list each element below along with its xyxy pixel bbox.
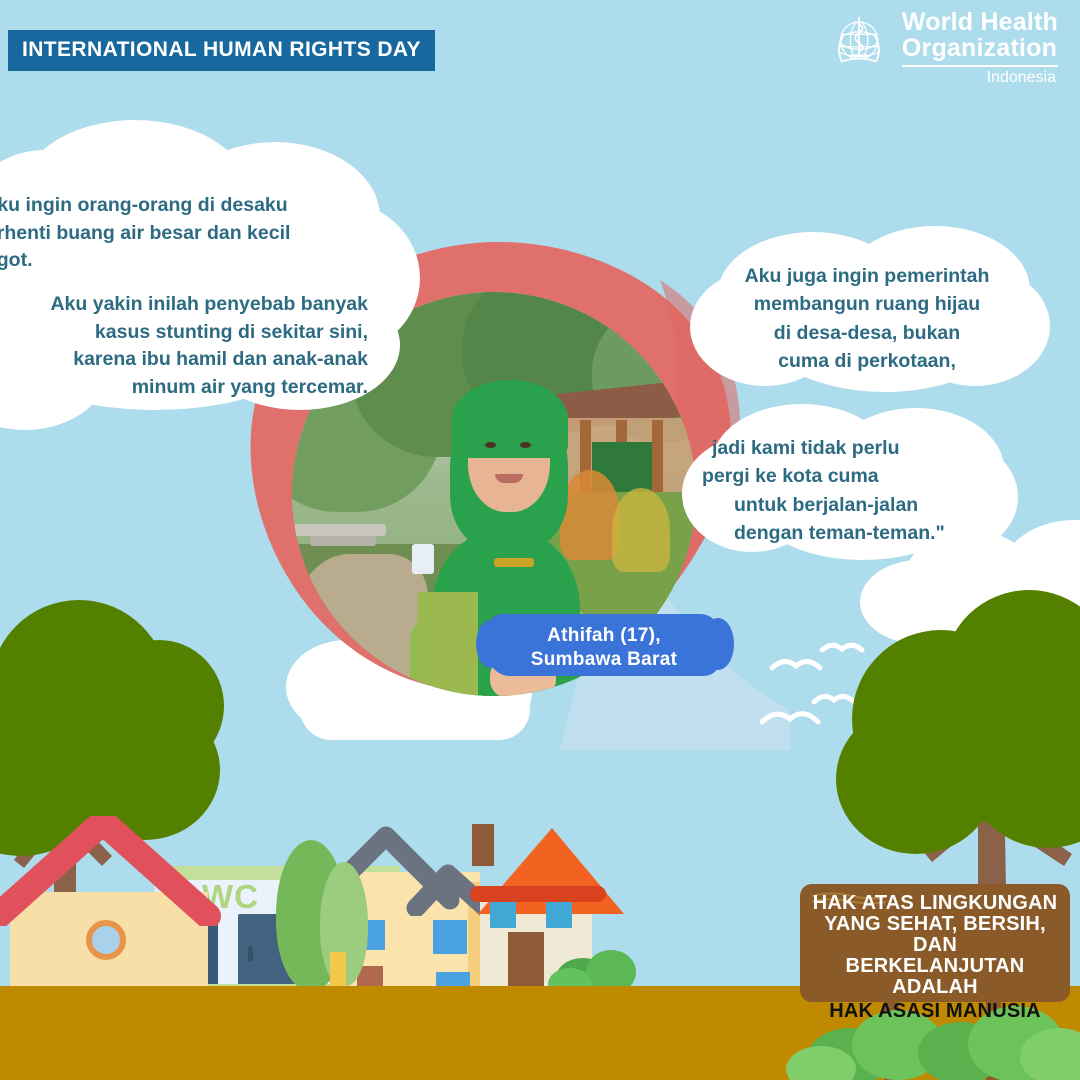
quote-rb-line-4: dengan teman-teman." (712, 519, 984, 547)
sign-line-2: YANG SEHAT, BERSIH, DAN (800, 914, 1070, 956)
badge-location: Sumbawa Barat (488, 648, 720, 672)
name-badge: Athifah (17), Sumbawa Barat (488, 614, 720, 676)
quote-rb-line-3: untuk berjalan-jalan (712, 491, 984, 519)
sign-line-3: BERKELANJUTAN (800, 956, 1070, 977)
quote-rb-line-2: pergi ke kota cuma (712, 462, 984, 490)
quote-bubble-right-bottom: jadi kami tidak perlu pergi ke kota cuma… (688, 408, 998, 558)
quote-left-group-2: Aku yakin inilah penyebab banyak kasus s… (0, 291, 420, 402)
poster-canvas: Athifah (17), Sumbawa Barat "Aku ingin o… (0, 0, 1080, 1080)
quote-left-line-2: berhenti buang air besar dan kecil (0, 220, 420, 248)
rights-statement-sign: HAK ATAS LINGKUNGAN YANG SEHAT, BERSIH, … (800, 884, 1070, 1002)
who-logo: World Health Organization Indonesia (828, 10, 1058, 86)
quote-left-line-7: minum air yang tercemar. (2, 374, 368, 402)
quote-rt-line-2: membangun ruang hijau (716, 290, 1018, 318)
quote-bubble-left: "Aku ingin orang-orang di desaku berhent… (0, 120, 420, 390)
who-line-1: World Health (902, 10, 1058, 36)
quote-left-group-1: "Aku ingin orang-orang di desaku berhent… (0, 192, 420, 275)
quote-rt-line-4: cuma di perkotaan, (716, 347, 1018, 375)
who-line-2: Organization (902, 36, 1058, 62)
sign-line-5: HAK ASASI MANUSIA (800, 1001, 1070, 1022)
quote-left-line-4: Aku yakin inilah penyebab banyak (2, 291, 368, 319)
badge-name: Athifah (17), (488, 624, 720, 648)
sign-line-1: HAK ATAS LINGKUNGAN (800, 893, 1070, 914)
quote-left-line-6: karena ibu hamil dan anak-anak (2, 346, 368, 374)
who-emblem-icon (828, 12, 890, 74)
quote-left-line-5: kasus stunting di sekitar sini, (2, 319, 368, 347)
quote-rb-line-1: jadi kami tidak perlu (712, 434, 984, 462)
quote-left-line-3: di got. (0, 247, 420, 275)
quote-rt-line-1: Aku juga ingin pemerintah (716, 262, 1018, 290)
quote-left-line-1: "Aku ingin orang-orang di desaku (0, 192, 420, 220)
who-divider (902, 65, 1058, 67)
quote-rt-line-3: di desa-desa, bukan (716, 319, 1018, 347)
who-country: Indonesia (902, 70, 1058, 86)
quote-bubble-right-top: Aku juga ingin pemerintah membangun ruan… (690, 232, 1040, 387)
banner-title: INTERNATIONAL HUMAN RIGHTS DAY (22, 38, 421, 61)
header-banner: INTERNATIONAL HUMAN RIGHTS DAY (8, 30, 435, 71)
sign-line-4: ADALAH (800, 977, 1070, 998)
